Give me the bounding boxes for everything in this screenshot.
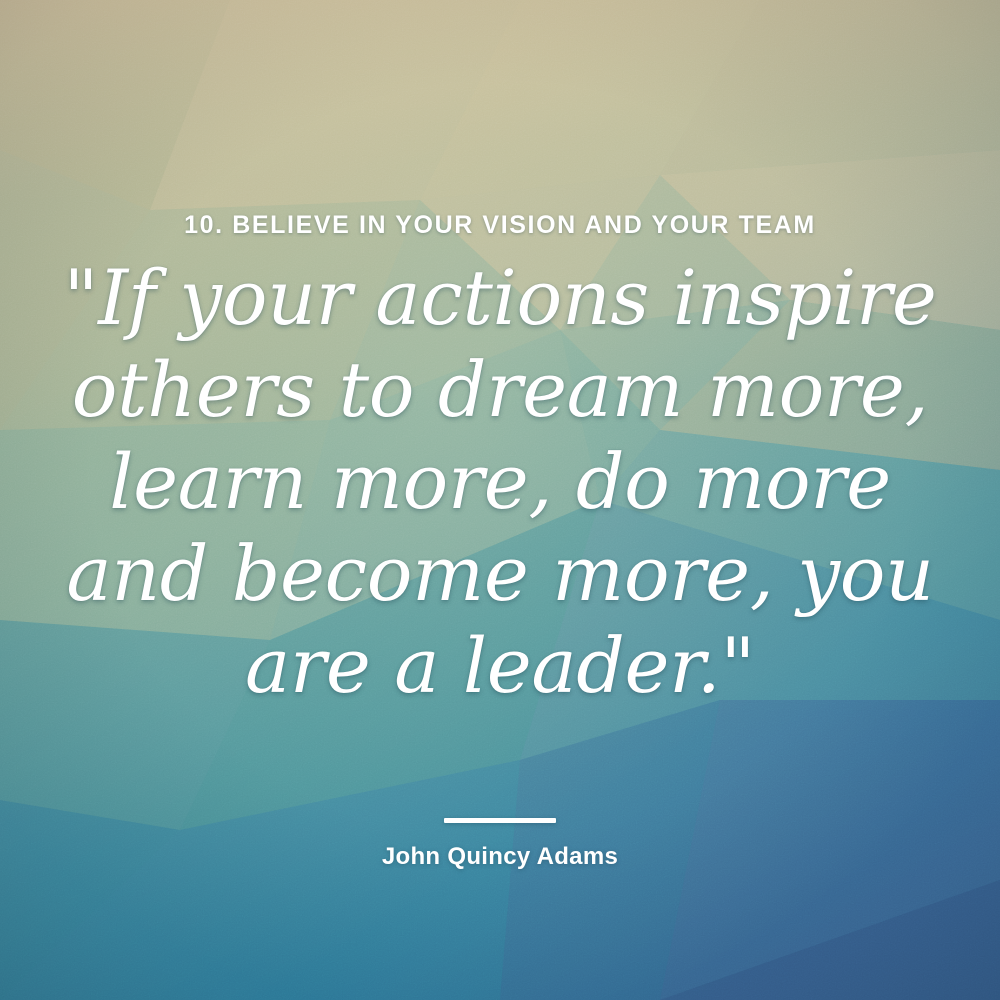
quote-line: are a leader." xyxy=(60,620,940,712)
quote-content: 10. BELIEVE IN YOUR VISION AND YOUR TEAM… xyxy=(0,0,1000,1000)
section-heading: 10. BELIEVE IN YOUR VISION AND YOUR TEAM xyxy=(184,213,816,238)
quote-line: "If your actions inspire xyxy=(60,252,940,344)
quote-line: others to dream more, xyxy=(60,344,940,436)
quote-line: learn more, do more xyxy=(60,436,940,528)
quote-attribution: John Quincy Adams xyxy=(382,845,618,869)
quote-card: 10. BELIEVE IN YOUR VISION AND YOUR TEAM… xyxy=(0,0,1000,1000)
quote-line: and become more, you xyxy=(60,528,940,620)
divider-rule xyxy=(444,818,556,823)
quote-text: "If your actions inspire others to dream… xyxy=(60,252,940,712)
